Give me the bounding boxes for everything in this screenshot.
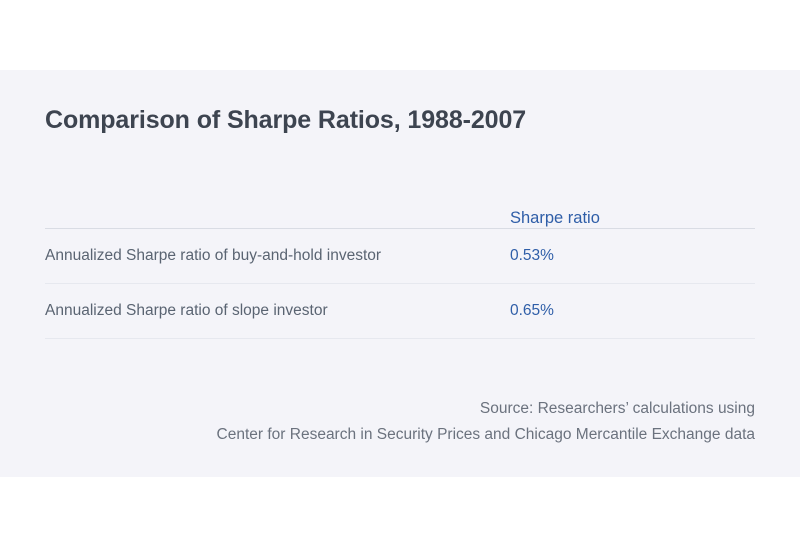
table-row: Annualized Sharpe ratio of slope investo…	[45, 284, 755, 338]
source-note-line-1: Source: Researchers’ calculations using	[45, 396, 755, 422]
table-bottom-divider	[45, 338, 755, 339]
figure-panel: Comparison of Sharpe Ratios, 1988-2007 S…	[0, 70, 800, 477]
page-title: Comparison of Sharpe Ratios, 1988-2007	[45, 106, 526, 135]
table-row: Annualized Sharpe ratio of buy-and-hold …	[45, 229, 755, 283]
figure-content: Comparison of Sharpe Ratios, 1988-2007 S…	[45, 70, 755, 477]
source-note-line-2: Center for Research in Security Prices a…	[45, 422, 755, 448]
row-value-slope-investor: 0.65%	[510, 302, 755, 320]
sharpe-ratio-table: Sharpe ratio Annualized Sharpe ratio of …	[45, 196, 755, 339]
row-label-slope-investor: Annualized Sharpe ratio of slope investo…	[45, 302, 510, 320]
figure-canvas: Comparison of Sharpe Ratios, 1988-2007 S…	[0, 0, 800, 550]
row-label-buy-and-hold: Annualized Sharpe ratio of buy-and-hold …	[45, 247, 510, 265]
table-header-row: Sharpe ratio	[45, 196, 755, 228]
table-header-sharpe-ratio: Sharpe ratio	[510, 209, 755, 228]
source-note: Source: Researchers’ calculations using …	[45, 396, 755, 448]
row-value-buy-and-hold: 0.53%	[510, 247, 755, 265]
